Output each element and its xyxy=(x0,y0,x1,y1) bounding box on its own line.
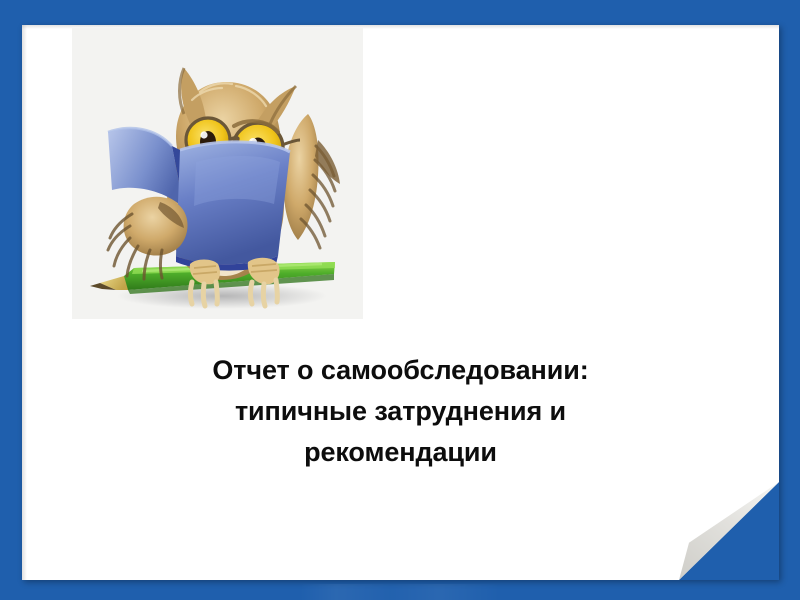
bottom-edge-artifact xyxy=(300,584,500,600)
owl-illustration xyxy=(72,28,363,319)
slide-page: Отчет о самообследовании: типичные затру… xyxy=(22,25,779,580)
title-line-2: типичные затруднения и xyxy=(22,391,779,432)
title-line-3: рекомендации xyxy=(22,432,779,473)
title-line-1: Отчет о самообследовании: xyxy=(22,350,779,391)
slide-frame: Отчет о самообследовании: типичные затру… xyxy=(0,0,800,600)
slide-title: Отчет о самообследовании: типичные затру… xyxy=(22,350,779,473)
